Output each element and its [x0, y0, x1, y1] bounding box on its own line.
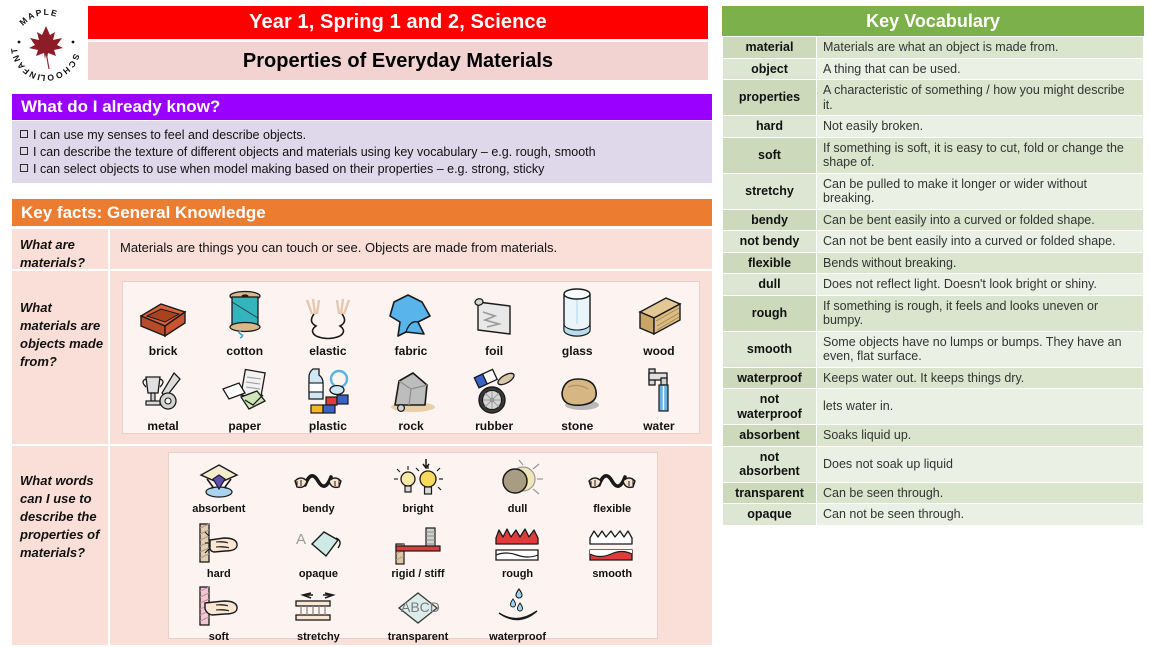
property-label: flexible	[593, 503, 631, 515]
vocabulary-term: material	[723, 37, 817, 59]
property-label: rigid / stiff	[391, 568, 444, 580]
vocabulary-definition: Keeps water out. It keeps things dry.	[817, 367, 1144, 389]
bendy-hands-icon	[291, 461, 345, 501]
elastic-band-icon	[299, 294, 357, 342]
vocabulary-row: materialMaterials are what an object is …	[723, 37, 1144, 59]
maple-leaf-icon	[29, 26, 63, 69]
vocabulary-definition: Does not reflect light. Doesn't look bri…	[817, 274, 1144, 296]
glass-tumbler-icon	[554, 288, 600, 342]
subject-title-bar: Year 1, Spring 1 and 2, Science	[88, 6, 708, 39]
property-label: smooth	[592, 568, 632, 580]
left-column: MAPLE SCHOOL INFANTS' Year 1, Spring 1 a…	[0, 0, 716, 647]
brick-icon	[135, 292, 191, 342]
material-item-rubber[interactable]: rubber	[453, 361, 536, 433]
property-item-rigid-stiff[interactable]: rigid / stiff	[368, 518, 468, 580]
vocabulary-term: smooth	[723, 331, 817, 367]
materials-icon-panel: brick cotton	[122, 281, 700, 434]
vocabulary-row: opaqueCan not be seen through.	[723, 504, 1144, 526]
vocabulary-row: roughIf something is rough, it feels and…	[723, 295, 1144, 331]
property-item-dull[interactable]: dull	[468, 455, 568, 515]
vocabulary-definition: Can be bent easily into a curved or fold…	[817, 209, 1144, 231]
fabric-cloth-icon	[384, 290, 438, 342]
key-vocabulary-table: materialMaterials are what an object is …	[722, 36, 1144, 526]
logo-svg: MAPLE SCHOOL INFANTS'	[6, 4, 86, 86]
rigid-stiff-shelf-icon	[390, 526, 446, 566]
key-vocabulary-heading: Key Vocabulary	[722, 6, 1144, 36]
fact-question-materials: What are materials?	[12, 229, 108, 269]
svg-text:SCHOOL: SCHOOL	[38, 53, 82, 84]
knowledge-organizer-page: MAPLE SCHOOL INFANTS' Year 1, Spring 1 a…	[0, 0, 1150, 647]
material-label: rubber	[475, 419, 513, 433]
prior-knowledge-item-label: I can use my senses to feel and describe…	[33, 128, 306, 142]
material-item-wood[interactable]: wood	[619, 286, 699, 358]
material-label: rock	[398, 419, 423, 433]
hard-finger-wall-icon	[194, 522, 244, 566]
vocabulary-term: opaque	[723, 504, 817, 526]
property-item-waterproof[interactable]: waterproof	[468, 583, 568, 643]
property-item-stretchy[interactable]: stretchy	[269, 583, 369, 643]
vocabulary-definition: A thing that can be used.	[817, 58, 1144, 80]
property-item-hard[interactable]: hard	[169, 518, 269, 580]
prior-knowledge-item: I can use my senses to feel and describe…	[20, 127, 704, 144]
rubber-eraser-wheel-icon	[468, 367, 520, 417]
water-tap-icon	[635, 365, 683, 417]
rough-surface-icon	[490, 526, 546, 566]
properties-icon-panel: absorbent bendy	[168, 452, 658, 639]
property-item-transparent[interactable]: ABCD transparent	[368, 583, 468, 643]
material-item-paper[interactable]: paper	[203, 361, 286, 433]
checkbox-icon	[20, 147, 28, 155]
vocabulary-definition: If something is soft, it is easy to cut,…	[817, 137, 1144, 173]
property-label: transparent	[388, 631, 449, 643]
material-label: paper	[228, 419, 261, 433]
svg-text:ABCD: ABCD	[401, 599, 440, 615]
stone-pebble-icon	[550, 367, 604, 417]
vocabulary-term: flexible	[723, 252, 817, 274]
material-label: foil	[485, 344, 503, 358]
dull-ball-icon	[493, 459, 543, 501]
properties-row-3: soft	[169, 580, 657, 643]
property-label: stretchy	[297, 631, 340, 643]
property-label: opaque	[299, 568, 338, 580]
vocabulary-row: flexibleBends without breaking.	[723, 252, 1144, 274]
material-item-cotton[interactable]: cotton	[203, 286, 286, 358]
vocabulary-row: smoothSome objects have no lumps or bump…	[723, 331, 1144, 367]
vocabulary-row: bendyCan be bent easily into a curved or…	[723, 209, 1144, 231]
vocabulary-term: stretchy	[723, 173, 817, 209]
vocabulary-term: dull	[723, 274, 817, 296]
vocabulary-row: stretchyCan be pulled to make it longer …	[723, 173, 1144, 209]
fact-question-describe-properties: What words can I use to describe the pro…	[12, 446, 108, 645]
material-label: fabric	[395, 344, 428, 358]
properties-row-3-spacer	[567, 583, 657, 643]
property-label: soft	[209, 631, 229, 643]
vocabulary-definition: Can not be bent easily into a curved or …	[817, 231, 1144, 253]
wood-plank-icon	[632, 292, 686, 342]
vocabulary-term: properties	[723, 80, 817, 116]
property-label: dull	[508, 503, 528, 515]
vocabulary-definition: Bends without breaking.	[817, 252, 1144, 274]
property-item-absorbent[interactable]: absorbent	[169, 455, 269, 515]
material-label: cotton	[226, 344, 263, 358]
absorbent-cloth-icon	[195, 459, 243, 501]
prior-knowledge-body: I can use my senses to feel and describe…	[12, 121, 712, 183]
maple-infants-school-logo: MAPLE SCHOOL INFANTS'	[6, 4, 86, 86]
waterproof-droplet-icon	[493, 585, 543, 629]
vocabulary-definition: Soaks liquid up.	[817, 425, 1144, 447]
vocabulary-definition: Materials are what an object is made fro…	[817, 37, 1144, 59]
vocabulary-row: objectA thing that can be used.	[723, 58, 1144, 80]
metal-trophy-key-icon	[136, 365, 190, 417]
material-label: plastic	[309, 419, 347, 433]
property-item-bright[interactable]: bright	[368, 455, 468, 515]
plastic-bottle-toys-icon	[299, 365, 357, 417]
material-item-glass[interactable]: glass	[536, 286, 619, 358]
vocabulary-term: rough	[723, 295, 817, 331]
property-label: hard	[207, 568, 231, 580]
fact-answer-objects-made-from: brick cotton	[110, 271, 712, 444]
paper-sheets-icon	[217, 367, 273, 417]
topic-title-bar: Properties of Everyday Materials	[88, 42, 708, 80]
vocabulary-row: hardNot easily broken.	[723, 116, 1144, 138]
vocabulary-definition: Can be pulled to make it longer or wider…	[817, 173, 1144, 209]
vocabulary-term: not absorbent	[723, 446, 817, 482]
transparent-abcd-icon: ABCD	[391, 587, 445, 629]
vocabulary-term: object	[723, 58, 817, 80]
property-label: bendy	[302, 503, 334, 515]
material-label: wood	[643, 344, 674, 358]
vocabulary-definition: A characteristic of something / how you …	[817, 80, 1144, 116]
property-label: bright	[402, 503, 433, 515]
property-label: rough	[502, 568, 533, 580]
foil-roll-icon	[469, 292, 519, 342]
prior-knowledge-item-label: I can describe the texture of different …	[33, 145, 596, 159]
material-item-water[interactable]: water	[619, 361, 699, 433]
key-facts-heading: Key facts: General Knowledge	[12, 199, 712, 226]
cotton-reel-icon	[222, 288, 268, 342]
material-item-foil[interactable]: foil	[453, 286, 536, 358]
vocabulary-term: absorbent	[723, 425, 817, 447]
stretchy-spring-icon	[291, 587, 345, 629]
property-label: absorbent	[192, 503, 245, 515]
property-item-opaque[interactable]: A opaque	[269, 518, 369, 580]
materials-row-2: metal paper	[123, 358, 699, 433]
prior-knowledge-item: I can select objects to use when model m…	[20, 161, 704, 178]
vocabulary-row: propertiesA characteristic of something …	[723, 80, 1144, 116]
material-item-rock[interactable]: rock	[369, 361, 452, 433]
flexible-hands-icon	[585, 461, 639, 501]
svg-text:MAPLE: MAPLE	[17, 7, 59, 28]
property-item-rough[interactable]: rough	[468, 518, 568, 580]
material-label: brick	[149, 344, 178, 358]
material-item-brick[interactable]: brick	[123, 286, 203, 358]
vocabulary-row: not bendyCan not be bent easily into a c…	[723, 231, 1144, 253]
material-item-stone[interactable]: stone	[536, 361, 619, 433]
vocabulary-definition: Some objects have no lumps or bumps. The…	[817, 331, 1144, 367]
vocabulary-row: transparentCan be seen through.	[723, 482, 1144, 504]
vocabulary-definition: Can be seen through.	[817, 482, 1144, 504]
vocabulary-row: dullDoes not reflect light. Doesn't look…	[723, 274, 1144, 296]
material-label: metal	[147, 419, 178, 433]
material-item-fabric[interactable]: fabric	[369, 286, 452, 358]
prior-knowledge-item-label: I can select objects to use when model m…	[33, 162, 544, 176]
vocabulary-term: waterproof	[723, 367, 817, 389]
vocabulary-row: not absorbentDoes not soak up liquid	[723, 446, 1144, 482]
key-vocabulary-panel: Key Vocabulary materialMaterials are wha…	[722, 6, 1144, 526]
vocabulary-definition: Not easily broken.	[817, 116, 1144, 138]
fact-question-objects-made-from: What materials are objects made from?	[12, 271, 108, 444]
rock-icon	[383, 367, 439, 417]
fact-answer-describe-properties: absorbent bendy	[110, 446, 712, 645]
property-item-flexible[interactable]: flexible	[567, 455, 657, 515]
material-label: stone	[561, 419, 593, 433]
material-item-elastic[interactable]: elastic	[286, 286, 369, 358]
vocabulary-term: transparent	[723, 482, 817, 504]
vocabulary-term: not bendy	[723, 231, 817, 253]
vocabulary-row: not waterprooflets water in.	[723, 389, 1144, 425]
soft-finger-icon	[194, 585, 244, 629]
prior-knowledge-heading: What do I already know?	[12, 94, 712, 120]
material-label: glass	[562, 344, 593, 358]
fact-answer-materials: Materials are things you can touch or se…	[110, 229, 712, 269]
material-label: water	[643, 419, 674, 433]
vocabulary-definition: Does not soak up liquid	[817, 446, 1144, 482]
checkbox-icon	[20, 164, 28, 172]
properties-row-2: hard A opaque	[169, 515, 657, 580]
materials-row-1: brick cotton	[123, 282, 699, 358]
property-item-smooth[interactable]: smooth	[567, 518, 657, 580]
property-item-soft[interactable]: soft	[169, 583, 269, 643]
vocabulary-definition: Can not be seen through.	[817, 504, 1144, 526]
properties-row-1: absorbent bendy	[169, 453, 657, 515]
vocabulary-definition: lets water in.	[817, 389, 1144, 425]
vocabulary-term: bendy	[723, 209, 817, 231]
smooth-surface-icon	[584, 526, 640, 566]
svg-text:A: A	[296, 531, 306, 548]
bright-bulbs-icon	[392, 457, 444, 501]
property-item-bendy[interactable]: bendy	[269, 455, 369, 515]
vocabulary-term: soft	[723, 137, 817, 173]
property-label: waterproof	[489, 631, 546, 643]
vocabulary-definition: If something is rough, it feels and look…	[817, 295, 1144, 331]
vocabulary-row: absorbentSoaks liquid up.	[723, 425, 1144, 447]
vocabulary-term: hard	[723, 116, 817, 138]
vocabulary-row: waterproofKeeps water out. It keeps thin…	[723, 367, 1144, 389]
material-item-plastic[interactable]: plastic	[286, 361, 369, 433]
material-item-metal[interactable]: metal	[123, 361, 203, 433]
opaque-sheet-icon: A	[292, 524, 344, 566]
vocabulary-term: not waterproof	[723, 389, 817, 425]
vocabulary-row: softIf something is soft, it is easy to …	[723, 137, 1144, 173]
checkbox-icon	[20, 130, 28, 138]
material-label: elastic	[309, 344, 346, 358]
prior-knowledge-item: I can describe the texture of different …	[20, 144, 704, 161]
